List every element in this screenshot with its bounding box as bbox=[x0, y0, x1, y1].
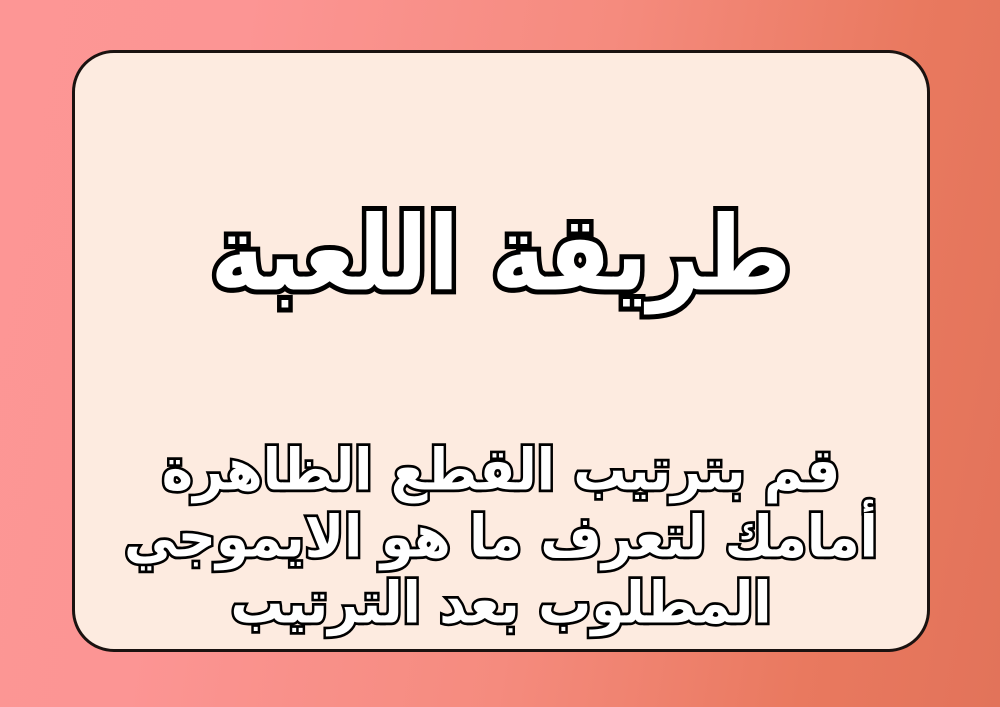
title-container: طريقة اللعبة bbox=[75, 145, 927, 365]
slide-root: طريقة اللعبة قم بترتيب القطع الظاهرة أما… bbox=[0, 0, 1000, 707]
instruction-line-1: قم بترتيب القطع الظاهرة bbox=[162, 436, 840, 506]
instructions-card: طريقة اللعبة قم بترتيب القطع الظاهرة أما… bbox=[72, 50, 930, 652]
instructions-container: قم بترتيب القطع الظاهرة أمامك لتعرف ما ه… bbox=[75, 439, 927, 637]
instruction-line-3: المطلوب بعد الترتيب bbox=[231, 570, 772, 640]
instruction-line-2: أمامك لتعرف ما هو الايموجي bbox=[124, 503, 878, 573]
page-title: طريقة اللعبة bbox=[210, 201, 791, 309]
